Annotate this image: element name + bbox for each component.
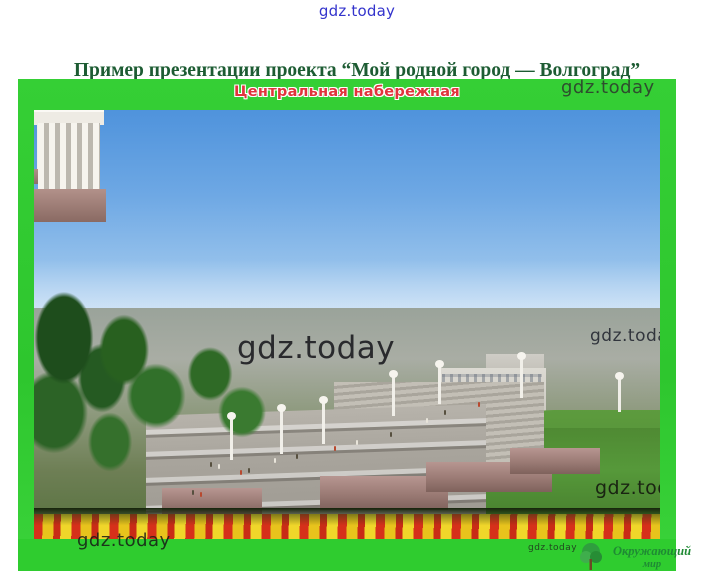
tree-cluster-left-2 xyxy=(96,306,186,456)
street-lamp xyxy=(618,378,621,412)
watermark-center: gdz.today xyxy=(237,330,395,366)
watermark-lower-left: gdz.today xyxy=(77,530,171,551)
street-lamp xyxy=(280,410,283,454)
tree-icon xyxy=(580,542,602,572)
site-logo-line2: мир xyxy=(600,558,704,572)
top-site-watermark: gdz.today xyxy=(0,2,714,20)
street-lamp xyxy=(392,376,395,416)
street-lamp xyxy=(438,366,441,404)
street-lamp xyxy=(230,418,233,460)
watermark-mid-right: gdz.today xyxy=(595,477,660,499)
site-logo-text: Окружающий мир xyxy=(600,544,704,572)
slide-photo: gdz.today gdz.today gdz.today gdz.today xyxy=(34,110,660,540)
watermark-header-right: gdz.today xyxy=(561,77,655,98)
watermark-upper-right: gdz.today xyxy=(590,326,660,346)
site-logo[interactable]: Окружающий мир xyxy=(578,540,710,584)
street-lamp xyxy=(520,358,523,398)
presentation-slide: Центральная набережная xyxy=(18,79,676,571)
street-lamp xyxy=(322,402,325,444)
watermark-tiny-bottom: gdz.today xyxy=(528,543,577,553)
site-logo-line1: Окружающий xyxy=(613,544,691,558)
terrace-wall-right xyxy=(510,448,600,474)
